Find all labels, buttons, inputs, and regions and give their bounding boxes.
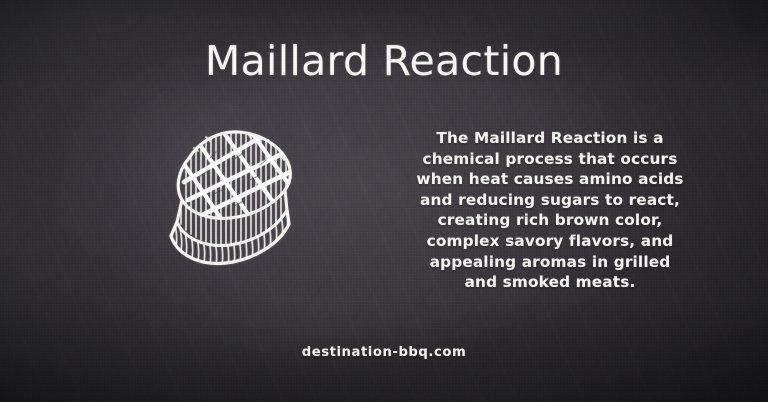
site-watermark: destination-bbq.com: [0, 345, 768, 361]
page-title: Maillard Reaction: [0, 38, 768, 84]
chalkboard-graphic: Maillard Reaction: [0, 0, 768, 402]
grilled-steak-icon: [148, 124, 306, 276]
description-text: The Maillard Reaction is a chemical proc…: [413, 128, 687, 293]
graphic-content: Maillard Reaction: [0, 0, 768, 402]
